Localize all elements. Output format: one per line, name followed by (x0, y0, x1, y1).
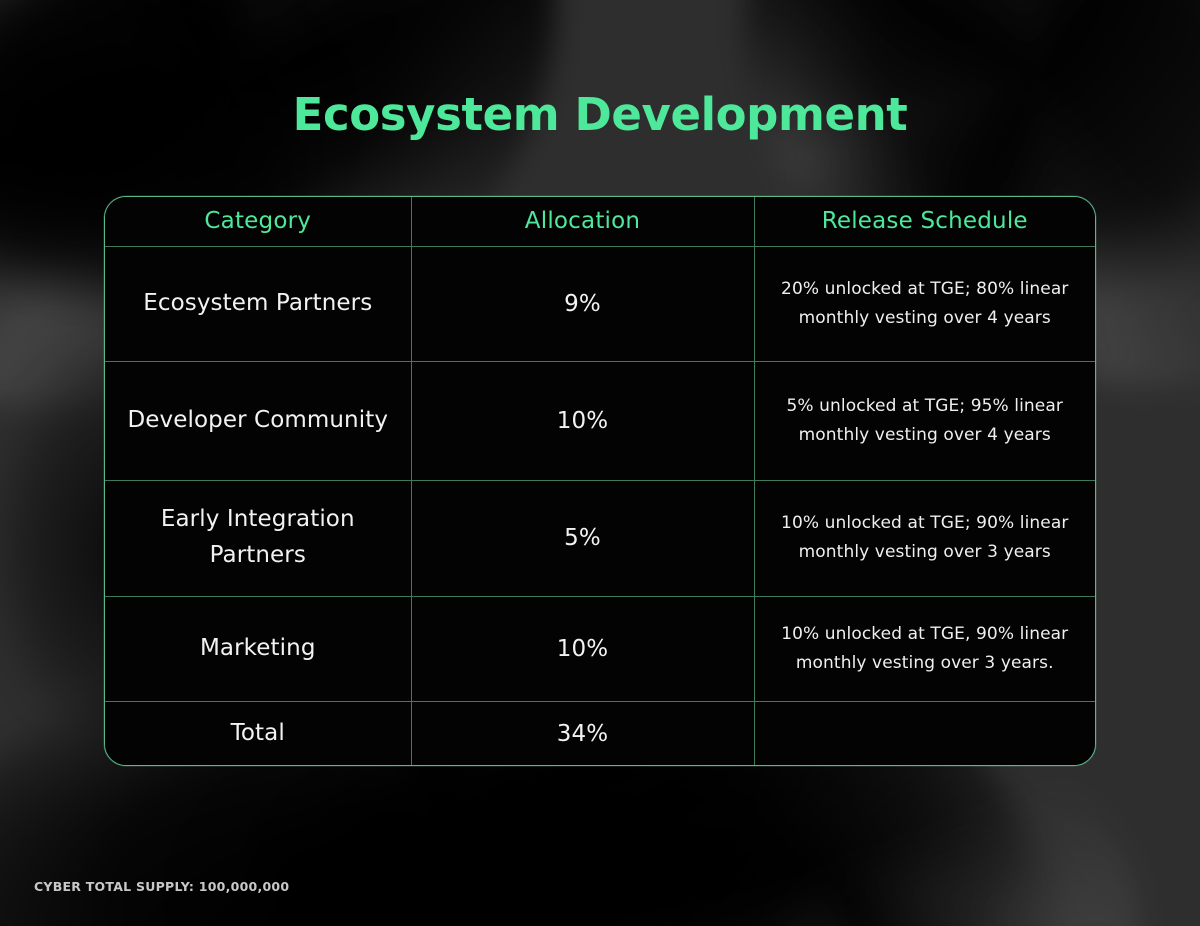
allocation-table-container: Category Allocation Release Schedule Eco… (104, 196, 1096, 766)
table-row: Early Integration Partners 5% 10% unlock… (105, 480, 1095, 596)
cell-category: Marketing (105, 596, 411, 701)
column-header-allocation: Allocation (411, 197, 754, 246)
cell-category: Developer Community (105, 361, 411, 480)
page-title: Ecosystem Development (0, 88, 1200, 141)
cell-allocation-total: 34% (411, 701, 754, 766)
table-header: Category Allocation Release Schedule (105, 197, 1095, 246)
cell-category-total: Total (105, 701, 411, 766)
table-row: Ecosystem Partners 9% 20% unlocked at TG… (105, 246, 1095, 361)
total-supply-note: CYBER TOTAL SUPPLY: 100,000,000 (34, 879, 289, 894)
table-row: Developer Community 10% 5% unlocked at T… (105, 361, 1095, 480)
table-row-total: Total 34% (105, 701, 1095, 766)
column-header-release-schedule: Release Schedule (754, 197, 1095, 246)
table-row: Marketing 10% 10% unlocked at TGE, 90% l… (105, 596, 1095, 701)
cell-release-schedule: 10% unlocked at TGE, 90% linear monthly … (754, 596, 1095, 701)
table-header-row: Category Allocation Release Schedule (105, 197, 1095, 246)
cell-release-schedule: 10% unlocked at TGE; 90% linear monthly … (754, 480, 1095, 596)
allocation-table: Category Allocation Release Schedule Eco… (105, 197, 1095, 766)
cell-allocation: 5% (411, 480, 754, 596)
column-header-category: Category (105, 197, 411, 246)
slide-page: Ecosystem Development Category Allocatio… (0, 0, 1200, 926)
cell-category: Ecosystem Partners (105, 246, 411, 361)
cell-allocation: 9% (411, 246, 754, 361)
cell-allocation: 10% (411, 361, 754, 480)
cell-release-schedule: 20% unlocked at TGE; 80% linear monthly … (754, 246, 1095, 361)
cell-release-schedule: 5% unlocked at TGE; 95% linear monthly v… (754, 361, 1095, 480)
cell-category: Early Integration Partners (105, 480, 411, 596)
table-body: Ecosystem Partners 9% 20% unlocked at TG… (105, 246, 1095, 766)
cell-release-schedule-total (754, 701, 1095, 766)
cell-allocation: 10% (411, 596, 754, 701)
